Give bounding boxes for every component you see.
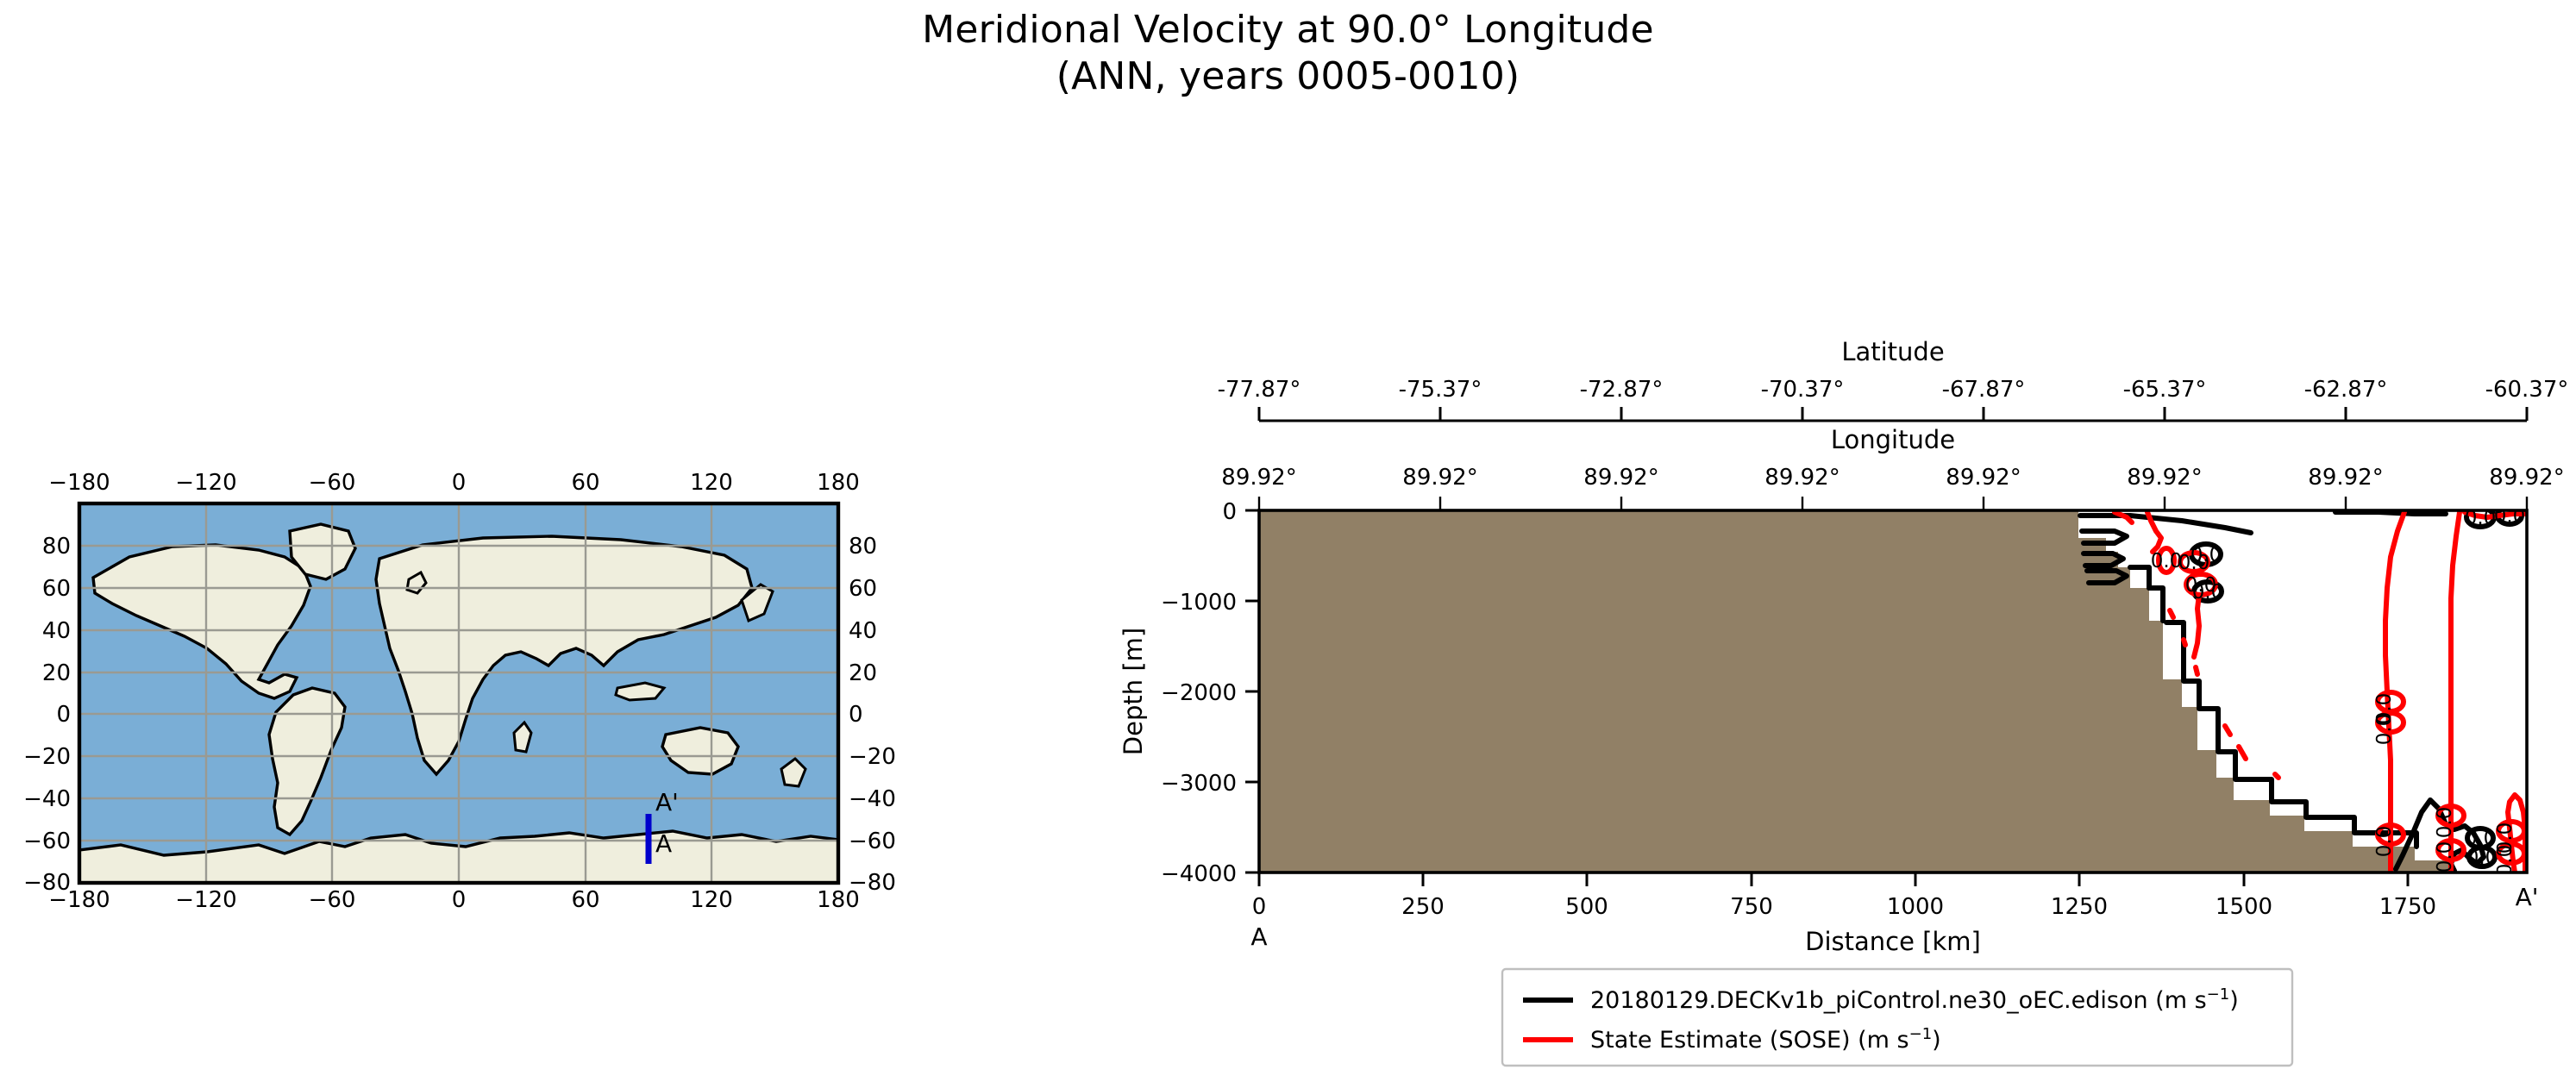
depth-tick-labels: 0 −1000 −2000 −3000 −4000: [1161, 499, 1237, 887]
svg-text:89.92°: 89.92°: [2308, 465, 2383, 491]
svg-text:89.92°: 89.92°: [1221, 465, 1296, 491]
svg-text:89.92°: 89.92°: [1946, 465, 2021, 491]
map-y-ticks-right: 80 60 40 20 0 −20 −40 −60 −80: [849, 534, 896, 896]
svg-text:-67.87°: -67.87°: [1942, 377, 2026, 403]
section-start-marker: A: [1250, 923, 1267, 951]
svg-text:−2000: −2000: [1161, 680, 1237, 706]
legend-box[interactable]: 20180129.DECKv1b_piControl.ne30_oEC.edis…: [1501, 967, 2294, 1071]
svg-text:0.0: 0.0: [2373, 714, 2396, 746]
svg-text:60: 60: [42, 576, 71, 602]
svg-text:0: 0: [1252, 894, 1267, 920]
longitude-axis-label: Longitude: [1831, 425, 1955, 454]
svg-text:1250: 1250: [2051, 894, 2108, 920]
map-x-ticks-top: −180 −120 −60 0 60 120 180: [48, 470, 860, 496]
distance-axis-ticks: [1259, 872, 2408, 886]
longitude-tick-labels: 89.92° 89.92° 89.92° 89.92° 89.92° 89.92…: [1221, 465, 2564, 491]
svg-text:-60.37°: -60.37°: [2485, 377, 2569, 403]
svg-text:−60: −60: [23, 829, 71, 854]
svg-text:750: 750: [1730, 894, 1773, 920]
svg-text:−20: −20: [849, 744, 896, 770]
title-line-1: Meridional Velocity at 90.0° Longitude: [0, 7, 2576, 53]
svg-text:89.92°: 89.92°: [1764, 465, 1840, 491]
map-transect-start-label: A: [655, 829, 672, 858]
svg-text:-65.37°: -65.37°: [2123, 377, 2207, 403]
svg-text:−60: −60: [849, 829, 896, 854]
title-line-2: (ANN, years 0005-0010): [0, 53, 2576, 100]
svg-text:20: 20: [42, 660, 71, 686]
svg-text:120: 120: [690, 470, 733, 496]
svg-text:20: 20: [849, 660, 877, 686]
latitude-tick-labels: -77.87° -75.37° -72.87° -70.37° -67.87° …: [1218, 377, 2569, 403]
svg-text:60: 60: [571, 470, 599, 496]
depth-axis-ticks: [1245, 510, 1259, 872]
svg-text:−4000: −4000: [1161, 861, 1237, 887]
map-y-ticks-left: 80 60 40 20 0 −20 −40 −60 −80: [23, 534, 71, 896]
svg-text:−40: −40: [849, 786, 896, 812]
svg-text:1500: 1500: [2216, 894, 2272, 920]
svg-text:0.0: 0.0: [2178, 552, 2210, 574]
svg-text:−180: −180: [48, 470, 110, 496]
latitude-axis-spine: [1259, 407, 2527, 421]
distance-tick-labels: 0 250 500 750 1000 1250 1500 1750: [1252, 894, 2436, 920]
svg-text:0.0: 0.0: [2185, 574, 2217, 597]
svg-text:89.92°: 89.92°: [2127, 465, 2202, 491]
svg-text:0.0: 0.0: [2466, 847, 2498, 869]
world-locator-map-panel: A' A −180 −120 −60 0 60 120 180 −180 −12…: [0, 448, 914, 914]
svg-text:-62.87°: -62.87°: [2304, 377, 2388, 403]
svg-text:−120: −120: [175, 887, 236, 913]
svg-text:40: 40: [42, 618, 71, 644]
svg-text:89.92°: 89.92°: [2489, 465, 2564, 491]
svg-text:-75.37°: -75.37°: [1399, 377, 1482, 403]
svg-text:−1000: −1000: [1161, 590, 1237, 616]
svg-text:−40: −40: [23, 786, 71, 812]
depth-axis-label: Depth [m]: [1119, 628, 1148, 755]
svg-text:−80: −80: [23, 870, 71, 896]
svg-text:0: 0: [452, 887, 467, 913]
svg-text:0.0: 0.0: [2373, 826, 2396, 858]
svg-text:−20: −20: [23, 744, 71, 770]
map-transect-end-label: A': [655, 788, 679, 816]
svg-text:40: 40: [849, 618, 877, 644]
section-end-marker: A': [2516, 883, 2539, 911]
svg-text:180: 180: [817, 470, 860, 496]
svg-text:0.0: 0.0: [2494, 505, 2526, 528]
svg-text:−80: −80: [849, 870, 896, 896]
svg-text:0.0: 0.0: [2434, 807, 2456, 839]
svg-text:0.0: 0.0: [2434, 841, 2456, 873]
figure-title: Meridional Velocity at 90.0° Longitude (…: [0, 7, 2576, 99]
svg-text:-70.37°: -70.37°: [1761, 377, 1845, 403]
figure-canvas: Meridional Velocity at 90.0° Longitude (…: [0, 0, 2576, 1082]
svg-text:0: 0: [452, 470, 467, 496]
svg-text:0: 0: [849, 702, 863, 728]
svg-text:500: 500: [1565, 894, 1608, 920]
svg-text:120: 120: [690, 887, 733, 913]
svg-text:-77.87°: -77.87°: [1218, 377, 1301, 403]
svg-text:−60: −60: [309, 887, 356, 913]
latitude-axis-label: Latitude: [1841, 337, 1944, 366]
svg-text:80: 80: [42, 534, 71, 560]
svg-text:0.0: 0.0: [2151, 550, 2183, 572]
svg-text:250: 250: [1401, 894, 1445, 920]
svg-text:60: 60: [849, 576, 877, 602]
longitude-axis-ticks: [1259, 497, 2527, 510]
svg-text:1750: 1750: [2379, 894, 2436, 920]
svg-text:0: 0: [56, 702, 71, 728]
distance-axis-label: Distance [km]: [1805, 927, 1981, 956]
svg-text:−120: −120: [175, 470, 236, 496]
svg-text:89.92°: 89.92°: [1583, 465, 1658, 491]
svg-text:1000: 1000: [1887, 894, 1944, 920]
svg-text:89.92°: 89.92°: [1402, 465, 1477, 491]
legend-label-sose: State Estimate (SOSE) (m s−1): [1590, 1025, 1941, 1054]
svg-text:80: 80: [849, 534, 877, 560]
svg-text:60: 60: [571, 887, 599, 913]
svg-text:−60: −60: [309, 470, 356, 496]
map-x-ticks-bottom: −180 −120 −60 0 60 120 180: [48, 887, 860, 913]
svg-text:0: 0: [1222, 499, 1237, 525]
section-plot-panel: Latitude -77.87° -75.37° -72.87° -70.37°…: [1104, 336, 2576, 1026]
legend-label-model: 20180129.DECKv1b_piControl.ne30_oEC.edis…: [1590, 985, 2239, 1015]
svg-text:-72.87°: -72.87°: [1580, 377, 1664, 403]
svg-text:−3000: −3000: [1161, 771, 1237, 797]
